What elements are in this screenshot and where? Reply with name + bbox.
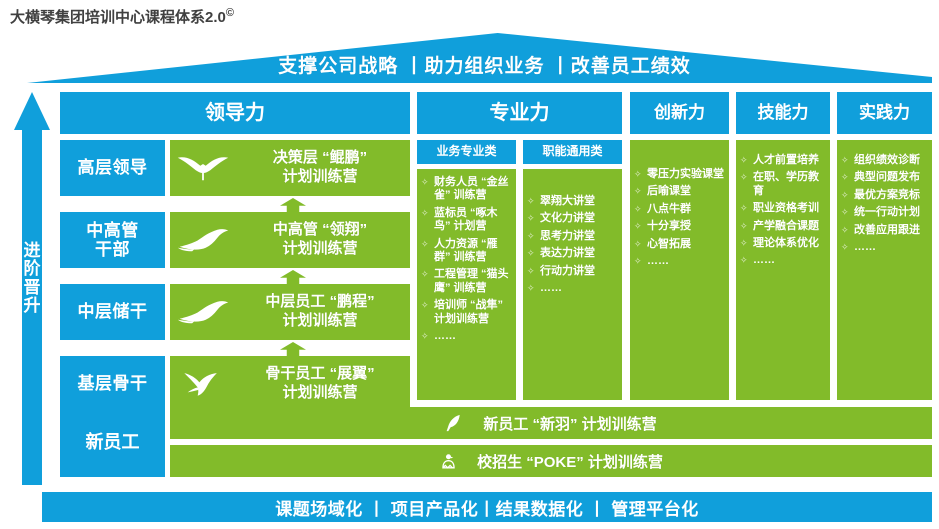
roof-banner: 支撑公司战略 丨助力组织业务 丨改善员工绩效 bbox=[27, 33, 932, 83]
list-item-label: 理论体系优化 bbox=[753, 237, 826, 250]
item-list: ✧零压力实验课堂 ✧后喻课堂 ✧八点牛群 ✧十分享授 ✧心智拓展 ✧…… bbox=[634, 168, 725, 268]
list-item[interactable]: ✧文化力讲堂 bbox=[527, 212, 618, 225]
list-item[interactable]: ✧在职、学历教育 bbox=[740, 171, 826, 198]
progression-char-1: 阶 bbox=[14, 260, 50, 278]
bullet-icon: ✧ bbox=[740, 154, 750, 166]
ladder-camp-label: 骨干员工 “展翼” 计划训练营 bbox=[236, 365, 404, 403]
list-item[interactable]: ✧工程管理 “猫头鹰” 训练营 bbox=[421, 268, 512, 295]
skill-body: ✧人才前置培养 ✧在职、学历教育 ✧职业资格考训 ✧产学融合课题 ✧理论体系优化… bbox=[736, 140, 830, 400]
copyright-mark: © bbox=[226, 7, 234, 19]
bullet-icon: ✧ bbox=[421, 330, 431, 342]
chevron-up-icon bbox=[280, 342, 306, 356]
bullet-icon: ✧ bbox=[740, 254, 750, 266]
subcolumn-header[interactable]: 职能通用类 bbox=[523, 140, 622, 164]
professional-block: 业务专业类 ✧财务人员 “金丝雀” 训练营 ✧蓝标员 “啄木鸟” 计划营 ✧人力… bbox=[417, 140, 622, 400]
ladder-row: 高层领导 决策层 “鲲鹏” 计划训练营 bbox=[60, 140, 410, 196]
footer-bar: 课题场域化 丨 项目产品化丨结果数据化 丨 管理平台化 bbox=[42, 492, 932, 522]
progression-char-2: 晋 bbox=[14, 279, 50, 297]
list-item[interactable]: ✧职业资格考训 bbox=[740, 202, 826, 215]
list-item-label: 典型问题发布 bbox=[854, 171, 928, 184]
list-item[interactable]: ✧典型问题发布 bbox=[841, 171, 928, 184]
bullet-icon: ✧ bbox=[740, 237, 750, 249]
list-item-label: 行动力讲堂 bbox=[540, 265, 618, 278]
list-item-label: 职业资格考训 bbox=[753, 202, 826, 215]
list-item[interactable]: ✧人才前置培养 bbox=[740, 154, 826, 167]
bullet-icon: ✧ bbox=[740, 202, 750, 214]
category-professional[interactable]: 专业力 bbox=[417, 92, 622, 134]
bullet-icon: ✧ bbox=[634, 220, 644, 232]
bullet-icon: ✧ bbox=[634, 185, 644, 197]
ladder-camp[interactable]: 决策层 “鲲鹏” 计划训练营 bbox=[170, 140, 410, 196]
list-item[interactable]: ✧人力资源 “雁群” 训练营 bbox=[421, 238, 512, 265]
progression-label: 进 阶 晋 升 bbox=[14, 242, 50, 315]
list-item[interactable]: ✧行动力讲堂 bbox=[527, 265, 618, 278]
ladder-row: 中高管 干部 中高管 “领翔” 计划训练营 bbox=[60, 212, 410, 268]
professional-subcolumn-functional: 职能通用类 ✧翠翔大讲堂 ✧文化力讲堂 ✧思考力讲堂 ✧表达力讲堂 ✧行动力讲堂… bbox=[523, 140, 622, 400]
list-item[interactable]: ✧蓝标员 “啄木鸟” 计划营 bbox=[421, 207, 512, 234]
list-item-label: …… bbox=[434, 330, 512, 343]
bullet-icon: ✧ bbox=[634, 255, 644, 267]
list-item[interactable]: ✧…… bbox=[634, 255, 725, 268]
list-item[interactable]: ✧培训师 “战隼” 计划训练营 bbox=[421, 299, 512, 326]
skill-column: ✧人才前置培养 ✧在职、学历教育 ✧职业资格考训 ✧产学融合课题 ✧理论体系优化… bbox=[736, 140, 830, 400]
ladder-level-label[interactable]: 中高管 干部 bbox=[60, 212, 165, 268]
list-item-label: 文化力讲堂 bbox=[540, 212, 618, 225]
item-list: ✧组织绩效诊断 ✧典型问题发布 ✧最优方案竞标 ✧统一行动计划 ✧改善应用跟进 … bbox=[841, 154, 928, 254]
subcolumn-header[interactable]: 业务专业类 bbox=[417, 140, 516, 164]
list-item-label: 思考力讲堂 bbox=[540, 230, 618, 243]
innovation-body: ✧零压力实验课堂 ✧后喻课堂 ✧八点牛群 ✧十分享授 ✧心智拓展 ✧…… bbox=[630, 140, 729, 400]
list-item-label: 财务人员 “金丝雀” 训练营 bbox=[434, 176, 512, 203]
list-item[interactable]: ✧改善应用跟进 bbox=[841, 224, 928, 237]
new-employee-row-label: 新员工 “新羽” 计划训练营 bbox=[483, 413, 656, 434]
list-item[interactable]: ✧最优方案竞标 bbox=[841, 189, 928, 202]
bullet-icon: ✧ bbox=[841, 189, 851, 201]
new-employee-row-label: 校招生 “POKE” 计划训练营 bbox=[477, 451, 663, 472]
bullet-icon: ✧ bbox=[841, 224, 851, 236]
ladder-camp[interactable]: 中层员工 “鹏程” 计划训练营 bbox=[170, 284, 410, 340]
list-item[interactable]: ✧产学融合课题 bbox=[740, 220, 826, 233]
list-item[interactable]: ✧理论体系优化 bbox=[740, 237, 826, 250]
bullet-icon: ✧ bbox=[841, 206, 851, 218]
bullet-icon: ✧ bbox=[527, 195, 537, 207]
list-item-label: 在职、学历教育 bbox=[753, 171, 826, 198]
category-header-row: 领导力 专业力 创新力 技能力 实践力 bbox=[60, 92, 932, 134]
practice-body: ✧组织绩效诊断 ✧典型问题发布 ✧最优方案竞标 ✧统一行动计划 ✧改善应用跟进 … bbox=[837, 140, 932, 400]
list-item[interactable]: ✧后喻课堂 bbox=[634, 185, 725, 198]
list-item-label: 最优方案竞标 bbox=[854, 189, 928, 202]
list-item[interactable]: ✧组织绩效诊断 bbox=[841, 154, 928, 167]
professional-subcolumn-business: 业务专业类 ✧财务人员 “金丝雀” 训练营 ✧蓝标员 “啄木鸟” 计划营 ✧人力… bbox=[417, 140, 516, 400]
bullet-icon: ✧ bbox=[421, 207, 431, 219]
feather-icon bbox=[445, 413, 465, 433]
bullet-icon: ✧ bbox=[527, 230, 537, 242]
item-list: ✧财务人员 “金丝雀” 训练营 ✧蓝标员 “啄木鸟” 计划营 ✧人力资源 “雁群… bbox=[421, 176, 512, 343]
list-item-label: 十分享授 bbox=[647, 220, 725, 233]
progression-char-3: 升 bbox=[14, 297, 50, 315]
subcolumn-body: ✧财务人员 “金丝雀” 训练营 ✧蓝标员 “啄木鸟” 计划营 ✧人力资源 “雁群… bbox=[417, 169, 516, 400]
list-item[interactable]: ✧…… bbox=[421, 330, 512, 343]
list-item[interactable]: ✧…… bbox=[841, 241, 928, 254]
ladder-camp-label: 决策层 “鲲鹏” 计划训练营 bbox=[236, 149, 404, 187]
bullet-icon: ✧ bbox=[527, 265, 537, 277]
list-item[interactable]: ✧心智拓展 bbox=[634, 238, 725, 251]
list-item-label: …… bbox=[854, 241, 928, 254]
category-skill[interactable]: 技能力 bbox=[736, 92, 830, 134]
ladder-camp-label: 中层员工 “鹏程” 计划训练营 bbox=[236, 293, 404, 331]
progression-arrow: 进 阶 晋 升 bbox=[14, 92, 50, 485]
list-item[interactable]: ✧零压力实验课堂 bbox=[634, 168, 725, 181]
item-list: ✧人才前置培养 ✧在职、学历教育 ✧职业资格考训 ✧产学融合课题 ✧理论体系优化… bbox=[740, 154, 826, 268]
ladder-level-label[interactable]: 中层储干 bbox=[60, 284, 165, 340]
hatching-chick-icon bbox=[439, 452, 459, 471]
list-item-label: 组织绩效诊断 bbox=[854, 154, 928, 167]
bullet-icon: ✧ bbox=[841, 154, 851, 166]
list-item-label: 表达力讲堂 bbox=[540, 247, 618, 260]
ladder-row: 中层储干 中层员工 “鹏程” 计划训练营 bbox=[60, 284, 410, 340]
bullet-icon: ✧ bbox=[421, 268, 431, 280]
category-innovation[interactable]: 创新力 bbox=[630, 92, 729, 134]
bullet-icon: ✧ bbox=[841, 171, 851, 183]
bullet-icon: ✧ bbox=[841, 241, 851, 253]
roof-label: 支撑公司战略 丨助力组织业务 丨改善员工绩效 bbox=[27, 51, 932, 78]
list-item-label: 改善应用跟进 bbox=[854, 224, 928, 237]
subcolumn-body: ✧翠翔大讲堂 ✧文化力讲堂 ✧思考力讲堂 ✧表达力讲堂 ✧行动力讲堂 ✧…… bbox=[523, 169, 622, 400]
ladder-camp[interactable]: 骨干员工 “展翼” 计划训练营 bbox=[170, 356, 410, 412]
list-item[interactable]: ✧表达力讲堂 bbox=[527, 247, 618, 260]
bullet-icon: ✧ bbox=[527, 212, 537, 224]
ladder-camp-label: 中高管 “领翔” 计划训练营 bbox=[236, 221, 404, 259]
eagle-icon bbox=[176, 153, 232, 184]
chevron-up-icon bbox=[280, 198, 306, 212]
ladder-level-label[interactable]: 基层骨干 bbox=[60, 356, 165, 412]
progression-char-0: 进 bbox=[14, 242, 50, 260]
bullet-icon: ✧ bbox=[421, 238, 431, 250]
practice-column: ✧组织绩效诊断 ✧典型问题发布 ✧最优方案竞标 ✧统一行动计划 ✧改善应用跟进 … bbox=[837, 140, 932, 400]
list-item-label: …… bbox=[540, 282, 618, 295]
leadership-ladder: 高层领导 决策层 “鲲鹏” 计划训练营 中高管 干部 bbox=[60, 140, 410, 400]
infographic-root: 大横琴集团培训中心课程体系2.0© 支撑公司战略 丨助力组织业务 丨改善员工绩效… bbox=[0, 0, 939, 529]
list-item-label: 人才前置培养 bbox=[753, 154, 826, 167]
list-item[interactable]: ✧…… bbox=[527, 282, 618, 295]
list-item-label: 翠翔大讲堂 bbox=[540, 195, 618, 208]
bullet-icon: ✧ bbox=[527, 282, 537, 294]
bullet-icon: ✧ bbox=[740, 220, 750, 232]
list-item-label: 人力资源 “雁群” 训练营 bbox=[434, 238, 512, 265]
new-employee-block: 新员工 新员工 “新羽” 计划训练营 bbox=[60, 407, 932, 477]
bullet-icon: ✧ bbox=[634, 238, 644, 250]
list-item-label: …… bbox=[647, 255, 725, 268]
list-item-label: 后喻课堂 bbox=[647, 185, 725, 198]
goose-icon bbox=[176, 299, 232, 326]
new-employee-level[interactable]: 新员工 bbox=[60, 407, 165, 477]
category-leadership[interactable]: 领导力 bbox=[60, 92, 410, 134]
list-item-label: 培训师 “战隼” 计划训练营 bbox=[434, 299, 512, 326]
list-item-label: 蓝标员 “啄木鸟” 计划营 bbox=[434, 207, 512, 234]
page-title: 大横琴集团培训中心课程体系2.0© bbox=[10, 6, 234, 27]
list-item-label: 八点牛群 bbox=[647, 203, 725, 216]
bullet-icon: ✧ bbox=[421, 299, 431, 311]
bullet-icon: ✧ bbox=[527, 247, 537, 259]
new-employee-row[interactable]: 新员工 “新羽” 计划训练营 bbox=[170, 407, 932, 439]
ladder-row: 基层骨干 骨干员工 “展翼” 计划训练营 bbox=[60, 356, 410, 412]
board: 领导力 专业力 创新力 技能力 实践力 高层领导 决策层 “鲲鹏” 计划训练营 bbox=[60, 92, 932, 484]
list-item-label: 零压力实验课堂 bbox=[647, 168, 725, 181]
list-item[interactable]: ✧财务人员 “金丝雀” 训练营 bbox=[421, 176, 512, 203]
list-item-label: 心智拓展 bbox=[647, 238, 725, 251]
list-item[interactable]: ✧十分享授 bbox=[634, 220, 725, 233]
page-title-text: 大横琴集团培训中心课程体系2.0 bbox=[10, 9, 226, 26]
innovation-column: ✧零压力实验课堂 ✧后喻课堂 ✧八点牛群 ✧十分享授 ✧心智拓展 ✧…… bbox=[630, 140, 729, 400]
list-item-label: 统一行动计划 bbox=[854, 206, 928, 219]
list-item[interactable]: ✧翠翔大讲堂 bbox=[527, 195, 618, 208]
bullet-icon: ✧ bbox=[421, 176, 431, 188]
ladder-camp[interactable]: 中高管 “领翔” 计划训练营 bbox=[170, 212, 410, 268]
bullet-icon: ✧ bbox=[634, 203, 644, 215]
list-item[interactable]: ✧思考力讲堂 bbox=[527, 230, 618, 243]
list-item[interactable]: ✧八点牛群 bbox=[634, 203, 725, 216]
item-list: ✧翠翔大讲堂 ✧文化力讲堂 ✧思考力讲堂 ✧表达力讲堂 ✧行动力讲堂 ✧…… bbox=[527, 195, 618, 295]
list-item[interactable]: ✧…… bbox=[740, 254, 826, 267]
bullet-icon: ✧ bbox=[740, 171, 750, 183]
category-practice[interactable]: 实践力 bbox=[837, 92, 932, 134]
list-item-label: 工程管理 “猫头鹰” 训练营 bbox=[434, 268, 512, 295]
list-item-label: 产学融合课题 bbox=[753, 220, 826, 233]
new-employee-row[interactable]: 校招生 “POKE” 计划训练营 bbox=[170, 445, 932, 477]
chevron-up-icon bbox=[280, 270, 306, 284]
goose-icon bbox=[176, 227, 232, 254]
list-item-label: …… bbox=[753, 254, 826, 267]
bullet-icon: ✧ bbox=[634, 168, 644, 180]
up-arrow-icon bbox=[14, 92, 50, 130]
hummingbird-icon bbox=[176, 369, 232, 399]
list-item[interactable]: ✧统一行动计划 bbox=[841, 206, 928, 219]
ladder-level-label[interactable]: 高层领导 bbox=[60, 140, 165, 196]
